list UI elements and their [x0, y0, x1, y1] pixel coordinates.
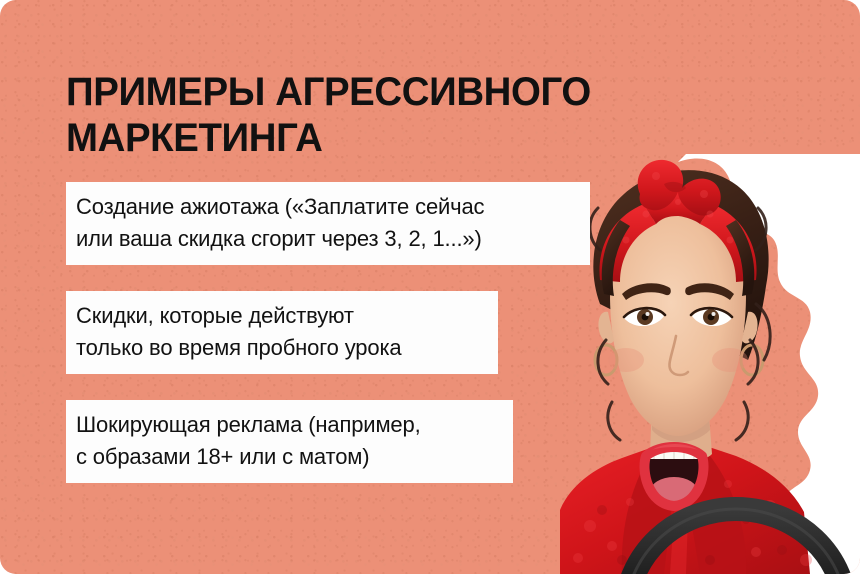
- bullet-item-1: Создание ажиотажа («Заплатите сейчас или…: [66, 182, 590, 265]
- page-title: ПРИМЕРЫ АГРЕССИВНОГО МАРКЕТИНГА: [66, 69, 652, 162]
- bullet-item-3: Шокирующая реклама (например, с образами…: [66, 400, 513, 483]
- bullet-item-2: Скидки, которые действуют только во врем…: [66, 291, 498, 374]
- slide-canvas: ПРИМЕРЫ АГРЕССИВНОГО МАРКЕТИНГА Создание…: [0, 0, 860, 574]
- ring-light: [612, 487, 860, 574]
